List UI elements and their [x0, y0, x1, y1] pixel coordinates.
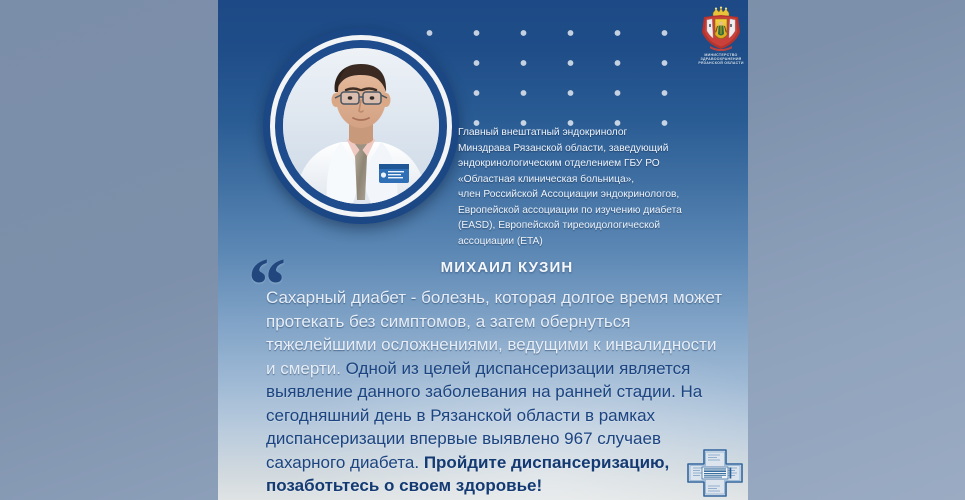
medical-cross-logo [684, 447, 746, 499]
poster-card: МИНИСТЕРСТВО ЗДРАВООХРАНЕНИЯ РЯЗАНСКОЙ О… [218, 0, 748, 500]
page-title: МИХАИЛ КУЗИН [218, 259, 748, 276]
quote-body: Сахарный диабет - болезнь, которая долго… [266, 286, 724, 498]
ministry-emblem: МИНИСТЕРСТВО ЗДРАВООХРАНЕНИЯ РЯЗАНСКОЙ О… [681, 6, 748, 80]
ministry-emblem-caption: МИНИСТЕРСТВО ЗДРАВООХРАНЕНИЯ РЯЗАНСКОЙ О… [698, 53, 743, 66]
ryazan-coat-of-arms-icon [696, 6, 746, 51]
poster-stage: МИНИСТЕРСТВО ЗДРАВООХРАНЕНИЯ РЯЗАНСКОЙ О… [0, 0, 965, 500]
credentials-text: Главный внештатный эндокринолог Минздрав… [458, 125, 736, 249]
avatar [263, 28, 459, 224]
doctor-portrait [283, 48, 439, 204]
